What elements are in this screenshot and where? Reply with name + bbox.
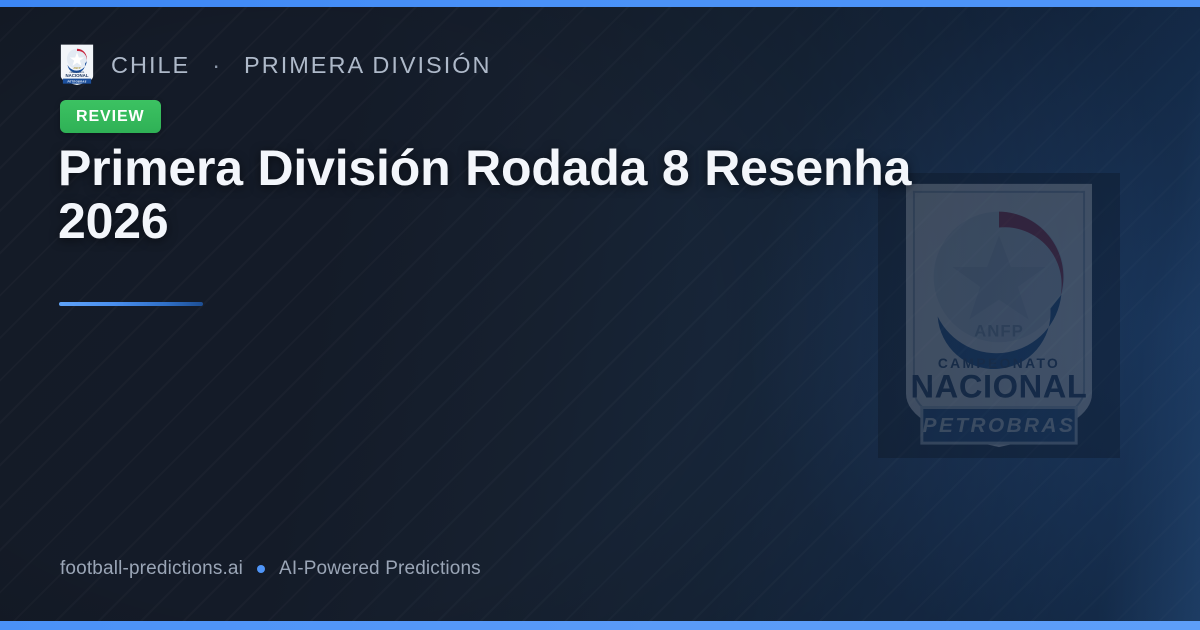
top-accent-bar xyxy=(0,0,1200,7)
svg-text:NACIONAL: NACIONAL xyxy=(65,73,88,78)
bullet-dot-icon xyxy=(257,565,265,573)
footer: football-predictions.ai AI-Powered Predi… xyxy=(60,556,481,582)
bottom-accent-bar xyxy=(0,621,1200,630)
page-title: Primera División Rodada 8 Resenha 2026 xyxy=(58,142,993,248)
breadcrumb-country: CHILE xyxy=(111,52,190,79)
breadcrumb: ANFP CAMPEONATO NACIONAL PETROBRAS CHILE… xyxy=(60,44,492,86)
footer-site: football-predictions.ai xyxy=(60,558,243,580)
og-card: ANFP CAMPEONATO NACIONAL PETROBRAS ANFP … xyxy=(0,0,1200,630)
title-accent-rule xyxy=(59,302,203,306)
status-badge: REVIEW xyxy=(60,100,161,133)
breadcrumb-separator: · xyxy=(207,52,227,79)
breadcrumb-competition: PRIMERA DIVISIÓN xyxy=(244,52,491,79)
content-layer: ANFP CAMPEONATO NACIONAL PETROBRAS CHILE… xyxy=(0,0,1200,630)
campeonato-nacional-petrobras-crest-icon: ANFP CAMPEONATO NACIONAL PETROBRAS xyxy=(60,44,94,86)
footer-tagline: AI-Powered Predictions xyxy=(279,558,481,580)
